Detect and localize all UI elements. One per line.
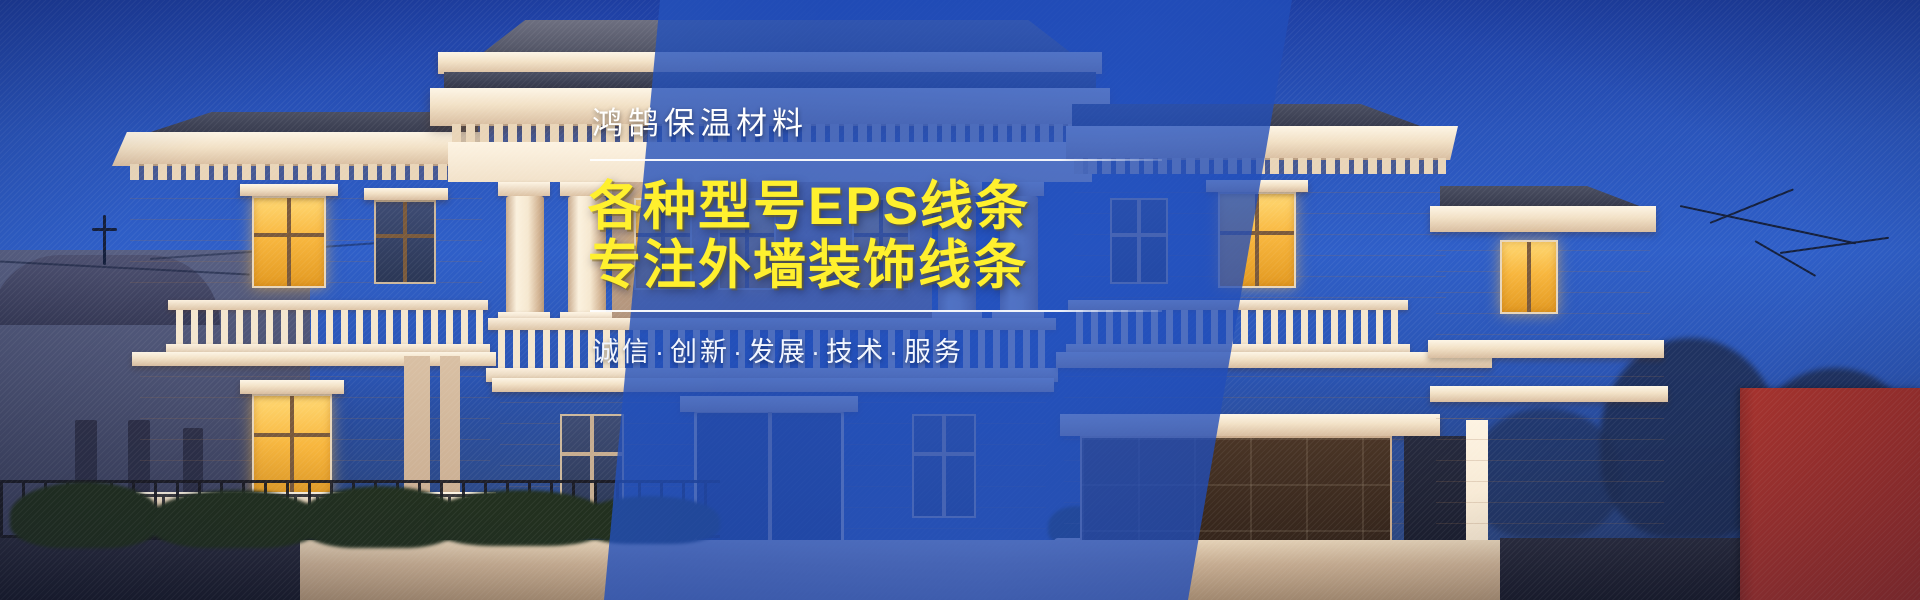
tagline-separator: ·: [808, 337, 826, 367]
window-header: [240, 184, 338, 196]
balcony-balusters-left: [172, 310, 484, 346]
window-header: [1206, 180, 1308, 192]
antenna-mast: [103, 215, 106, 265]
headline-line-2: 专注外墙装饰线条: [588, 236, 1208, 295]
tagline-item: 诚信: [592, 337, 652, 367]
column-capital: [498, 182, 550, 196]
headline-line-1: 各种型号EPS线条: [588, 177, 1208, 236]
hero-text-block: 鸿鹄保温材料 各种型号EPS线条 专注外墙装饰线条 诚信·创新·发展·技术·服务: [588, 98, 1208, 369]
tagline-separator: ·: [652, 337, 670, 367]
villa-window-lit: [252, 196, 326, 288]
door-header: [680, 396, 858, 412]
villa-cornice-far-right: [1430, 206, 1656, 232]
hero-banner: 鸿鹄保温材料 各种型号EPS线条 专注外墙装饰线条 诚信·创新·发展·技术·服务: [0, 0, 1920, 600]
villa-cornice-center-top: [438, 52, 1102, 74]
balcony-cap-left: [168, 300, 488, 310]
tagline-item: 技术: [826, 337, 886, 367]
window-header: [364, 188, 448, 200]
door-mullion: [768, 410, 772, 556]
headline: 各种型号EPS线条 专注外墙装饰线条: [588, 177, 1208, 296]
villa-cornice-left: [112, 132, 484, 166]
garage-header: [1060, 414, 1440, 436]
portico-column: [506, 196, 544, 314]
tagline-item: 服务: [904, 337, 964, 367]
villa-window-lit: [1500, 240, 1558, 314]
foreground-shrub: [150, 490, 320, 548]
red-panel: [1740, 388, 1920, 600]
divider-bottom: [590, 310, 1162, 312]
brand-name: 鸿鹄保温材料: [588, 98, 1208, 143]
divider-top: [590, 159, 1162, 161]
foreground-shrub: [580, 496, 720, 544]
tagline: 诚信·创新·发展·技术·服务: [588, 330, 1208, 369]
villa-belt-course-center: [492, 378, 1054, 392]
villa-window: [374, 200, 436, 284]
villa-window-lit: [1218, 192, 1296, 288]
tagline-item: 发展: [748, 337, 808, 367]
tagline-separator: ·: [730, 337, 748, 367]
tagline-item: 创新: [670, 337, 730, 367]
tagline-separator: ·: [886, 337, 904, 367]
foreground-shrub: [10, 482, 160, 548]
antenna-crossbar: [92, 228, 117, 231]
villa-base-course-far-right: [1430, 386, 1668, 402]
villa-window: [912, 414, 976, 518]
window-header: [240, 380, 344, 394]
